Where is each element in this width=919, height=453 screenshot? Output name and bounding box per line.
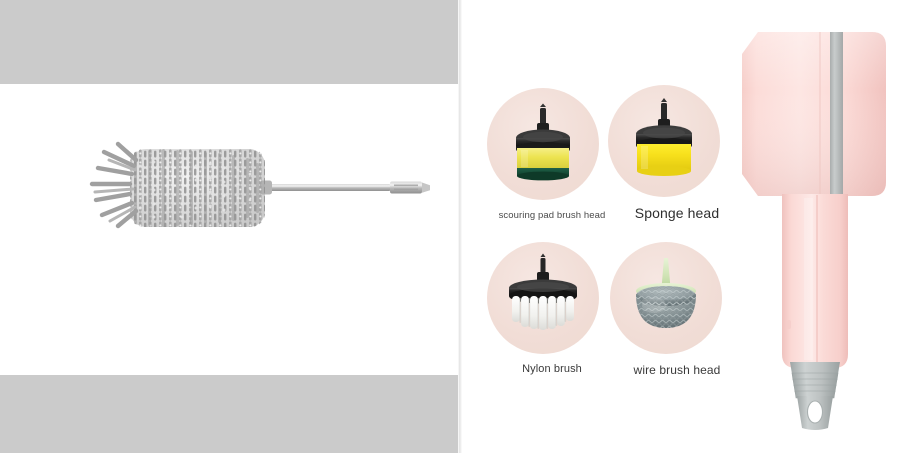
accessory-circle-backdrop <box>608 85 720 197</box>
accessory-label-nylon-brush: Nylon brush <box>483 363 621 375</box>
accessory-nylon-brush[interactable]: Nylon brush <box>483 242 621 375</box>
top-gray-band <box>0 0 459 84</box>
accessory-scouring-pad[interactable]: scouring pad brush head <box>483 88 621 221</box>
accessory-label-scouring-pad: scouring pad brush head <box>483 210 621 221</box>
product-image-canvas: scouring pad brush head <box>0 0 919 453</box>
bottle-brush-product-image <box>78 140 438 235</box>
right-accessories-panel: scouring pad brush head <box>462 0 919 453</box>
left-product-panel <box>0 0 459 453</box>
accessory-circle-backdrop <box>487 88 599 200</box>
handheld-spin-scrubber-image <box>720 24 905 430</box>
accessory-circle-backdrop <box>487 242 599 354</box>
bottom-gray-band <box>0 375 459 453</box>
accessory-circle-backdrop <box>610 242 722 354</box>
